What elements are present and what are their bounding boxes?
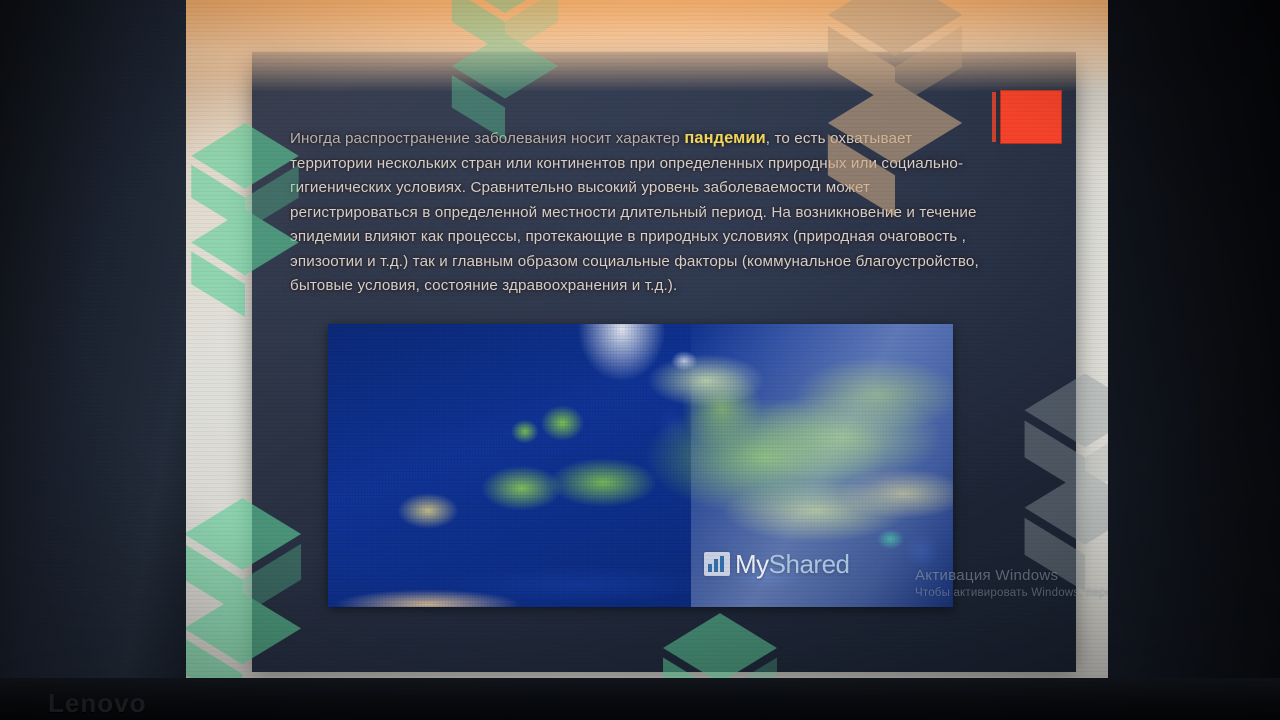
monitor-bezel-bottom — [0, 678, 1280, 720]
myshared-logo: MyShared — [704, 551, 850, 577]
monitor-bezel-right — [1108, 0, 1280, 720]
myshared-wordmark: MyShared — [735, 551, 850, 577]
slide-highlight-term: пандемии — [684, 129, 765, 147]
slide-accent-rectangle — [1000, 90, 1062, 144]
europe-satellite-map — [328, 324, 953, 607]
slide-text-lead: Иногда распространение заболевания носит… — [290, 130, 684, 147]
map-imagery — [328, 324, 953, 607]
slide-body-text: Иногда распространение заболевания носит… — [290, 126, 990, 299]
presentation-slide[interactable]: Иногда распространение заболевания носит… — [252, 52, 1076, 672]
presentation-chart-icon — [704, 552, 730, 576]
slide-accent-sliver — [992, 92, 998, 142]
myshared-name-my: My — [735, 549, 769, 579]
screenshot-root: Иногда распространение заболевания носит… — [0, 0, 1280, 720]
monitor-bezel-left — [0, 0, 186, 720]
slide-text-rest: , то есть охватывает территории нескольк… — [290, 130, 979, 294]
myshared-name-shared: Shared — [769, 549, 850, 579]
lenovo-brand-logo: Lenovo — [48, 688, 146, 719]
